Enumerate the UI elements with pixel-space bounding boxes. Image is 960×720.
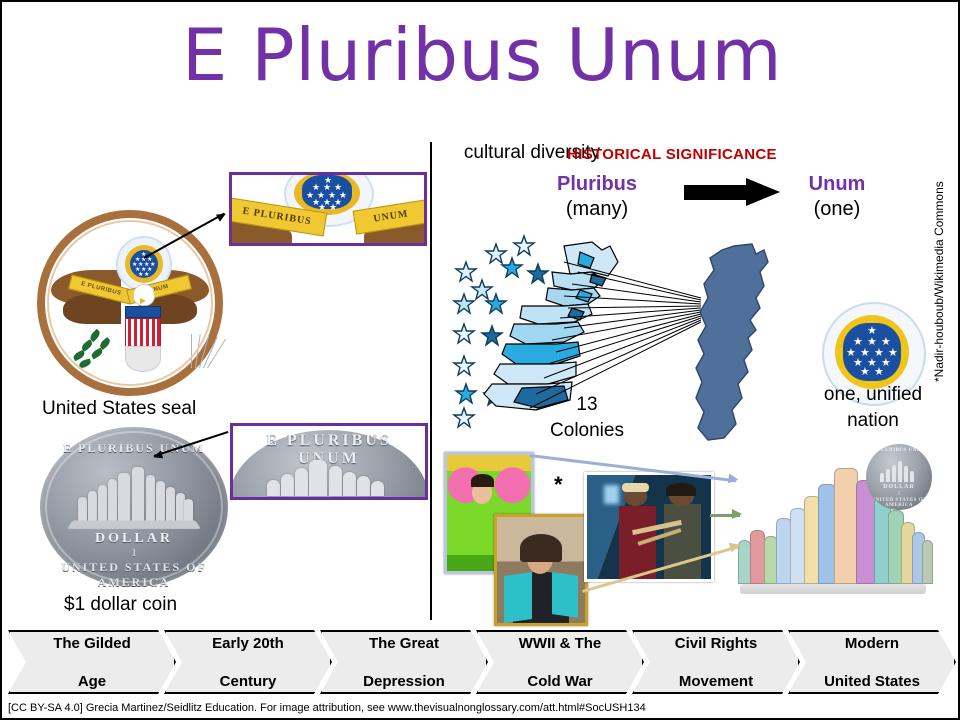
unum-word: Unum [762,172,912,196]
timeline-item-4[interactable]: Civil Rights Movement [632,630,800,694]
arrow-bundle-icon [175,322,219,368]
coin-detail-crowd-figures [267,456,393,496]
attribution-footer: [CC BY-SA 4.0] Grecia Martinez/Seidlitz … [8,702,646,714]
timeline-item-1[interactable]: Early 20th Century [164,630,332,694]
photo-woman-turquoise-shawl [494,514,588,626]
seal-stars: ★ ★★★ ★★★★ ★★★ ★★ [130,250,158,278]
timeline-item-3[interactable]: WWII & The Cold War [476,630,644,694]
unum-block: Unum (one) [762,172,912,222]
vertical-attribution: *Nadir-houboub/Wikimedia Commons [932,142,946,382]
timeline-item-0-line1: The Gilded [47,634,137,653]
timeline-item-0-line2: Age [47,672,137,691]
infographic-page: E Pluribus Unum ★ ★★★ ★★★★ [0,0,960,720]
timeline-item-4-line2: Movement [669,672,764,691]
seal-glory: ★ ★★★ ★★★★ ★★★ ★★ [116,236,172,292]
right-panel: HISTORICAL SIGNIFICANCE Pluribus (many) … [432,142,960,620]
eagle-tail-icon [125,346,161,372]
great-seal-icon: ★ ★★★ ★★★★ ★★★ ★★ E PLURIBUS UNUM [26,210,248,396]
coin-arc-top-text: E PLURIBUS UNUM [40,441,228,456]
nation-label: one, unified nation [798,382,948,434]
historical-significance-heading: HISTORICAL SIGNIFICANCE [432,146,912,163]
page-title: E Pluribus Unum [2,12,960,98]
seal-label: United States seal [42,398,196,420]
pluribus-gloss: (many) [522,196,672,222]
mini-coin-icon: E PLURIBUS UNUM DOLLAR 1 UNITED STATES O… [866,444,932,510]
dollar-coin-icon: E PLURIBUS UNUM DOLLAR 1 UNITED STATES O… [40,427,228,587]
timeline-item-5[interactable]: Modern United States [788,630,956,694]
seal-detail-inset: ★ ★★★ ★★★★ ★★★ ★★ E PLURIBUS UNUM [229,172,427,246]
eagle-head-icon [133,284,155,306]
nation-label-line1: one, unified [798,382,948,408]
seal-detail-stars: ★ ★★★ ★★★★ ★★★ ★★ [302,175,352,209]
timeline: The Gilded Age Early 20th Century The Gr… [8,630,956,694]
seal-shield-icon [125,306,161,348]
timeline-item-5-line2: United States [818,672,926,691]
mini-coin-denomination-value: 1 [866,492,932,497]
timeline-item-2-line1: The Great [357,634,451,653]
timeline-item-2-line2: Depression [357,672,451,691]
mini-coin-denomination-text: DOLLAR [866,484,932,490]
nation-label-line2: nation [798,408,948,434]
colonies-label-line1: 13 [532,392,642,418]
timeline-item-5-line1: Modern [818,634,926,653]
seal-scroll-left-text: E PLURIBUS [69,276,132,304]
timeline-item-1-line2: Century [206,672,290,691]
colonies-label-line2: Colonies [532,418,642,444]
timeline-item-2[interactable]: The Great Depression [320,630,488,694]
coin-detail-inset: E PLURIBUS UNUM [230,423,428,500]
glory-stars: ★ ★★★ ★★★★ ★★★ ★★ [843,323,901,381]
timeline-item-3-line1: WWII & The [513,634,608,653]
diverse-crowd-icon: E PLURIBUS UNUM DOLLAR 1 UNITED STATES O… [734,442,934,602]
timeline-item-1-line1: Early 20th [206,634,290,653]
colonies-label: 13 Colonies [532,392,642,444]
olive-branch-icon [73,326,119,370]
left-panel: ★ ★★★ ★★★★ ★★★ ★★ E PLURIBUS UNUM [4,142,430,620]
seal-scroll-right-text: UNUM [127,276,190,304]
timeline-item-0[interactable]: The Gilded Age [8,630,176,694]
coin-arc-bottom-text: UNITED STATES OF AMERICA [40,560,228,590]
coin-denomination-text: DOLLAR [40,531,228,547]
coin-label: $1 dollar coin [64,594,177,616]
seal-scroll-right: UNUM [126,274,192,304]
photo-two-musicians [584,472,714,582]
mini-coin-arc-bottom-text: UNITED STATES OF AMERICA [866,498,932,508]
eagle-beak-icon [140,298,146,304]
seal-scroll-left: E PLURIBUS [68,274,134,304]
unum-gloss: (one) [762,196,912,222]
coin-crowd-figures [76,461,192,523]
timeline-item-3-line2: Cold War [513,672,608,691]
mini-coin-arc-top-text: E PLURIBUS UNUM [866,448,932,453]
coin-denomination-value: 1 [40,547,228,559]
diversity-footnote-marker: * [554,472,563,498]
timeline-item-4-line1: Civil Rights [669,634,764,653]
pluribus-block: Pluribus (many) [522,172,672,222]
pluribus-word: Pluribus [522,172,672,196]
